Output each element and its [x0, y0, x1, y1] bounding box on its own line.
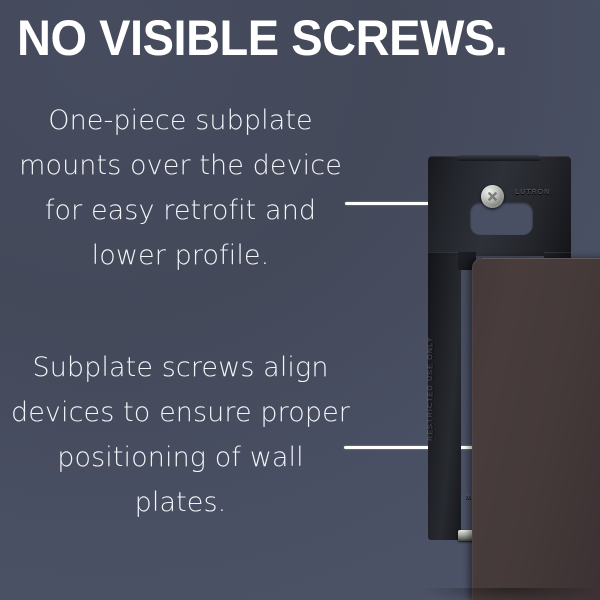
- mounting-screw-top-icon: [481, 185, 504, 208]
- callout-text-screws: Subplate screws align devices to ensure …: [8, 345, 353, 525]
- promo-image: NO VISIBLE SCREWS. One-piece subplate mo…: [0, 0, 600, 600]
- callout-text-subplate: One-piece subplate mounts over the devic…: [8, 98, 353, 278]
- embossed-brand-text: LUTRON: [515, 189, 550, 196]
- product-photo: LUTRON RESTRICTED USE ONLY CLAROMAX MADE…: [410, 140, 600, 600]
- wall-plate: [472, 258, 600, 600]
- embossed-left-rail-text: RESTRICTED USE ONLY: [428, 324, 435, 454]
- subplate-top-ridge: [458, 155, 540, 161]
- page-title: NO VISIBLE SCREWS.: [17, 12, 553, 64]
- device-window: [470, 202, 533, 235]
